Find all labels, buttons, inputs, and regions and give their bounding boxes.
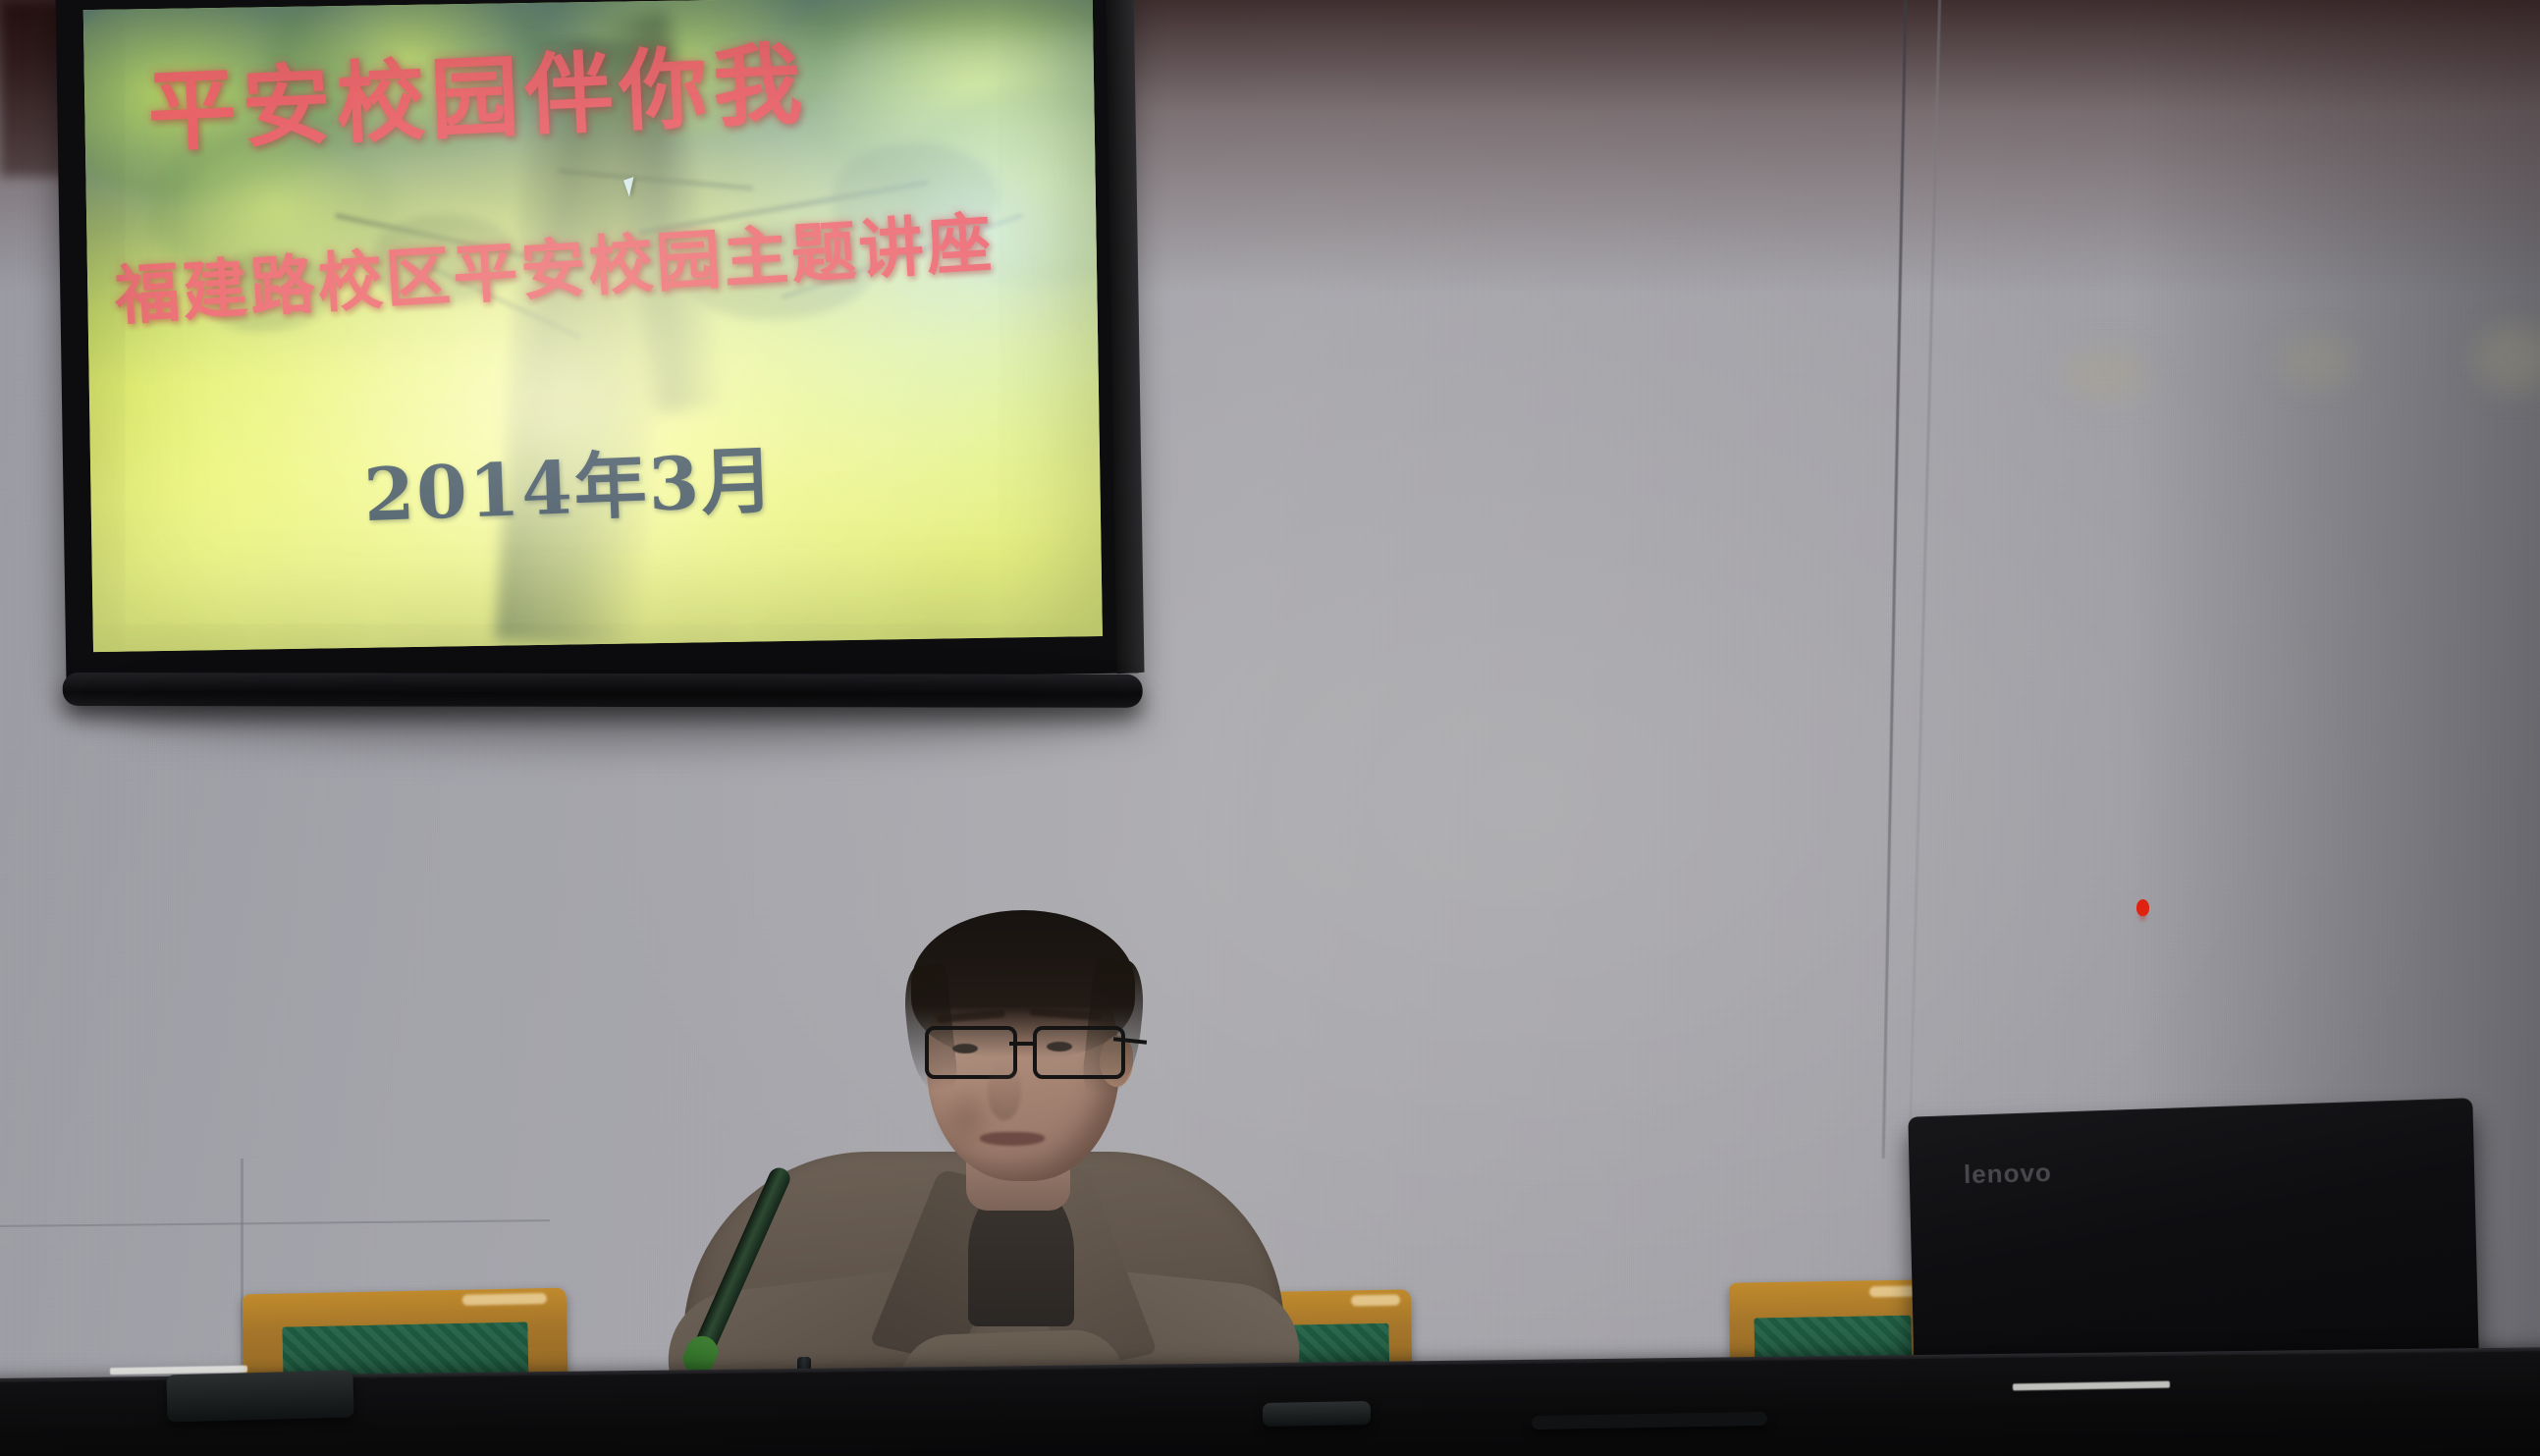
wall-red-mark	[2136, 899, 2149, 916]
eyeglasses-icon	[917, 1026, 1131, 1077]
wall-smudge-a	[2062, 346, 2150, 404]
slide-title: 平安校园伴你我	[144, 2, 1037, 168]
screen-drop-shadow	[108, 677, 1149, 746]
lecture-hall-scene: 平安校园伴你我 福建路校区平安校园主题讲座 2014年3月	[0, 0, 2540, 1456]
eyeglasses-lens-right	[1033, 1026, 1125, 1079]
desk-small-object[interactable]	[1263, 1401, 1371, 1427]
wall-smudge-b	[2278, 334, 2356, 389]
slide-date: 2014年3月	[361, 422, 777, 542]
eyeglasses-bridge	[1009, 1042, 1037, 1046]
slide-text-layer: 平安校园伴你我 福建路校区平安校园主题讲座 2014年3月	[83, 0, 1103, 652]
speaker-nose	[988, 1065, 1021, 1120]
projected-slide: 平安校园伴你我 福建路校区平安校园主题讲座 2014年3月	[83, 0, 1103, 652]
speaker-mouth	[980, 1132, 1045, 1146]
desk-remote-device[interactable]	[166, 1371, 353, 1423]
laptop-brand-logo: lenovo	[1964, 1158, 2053, 1190]
chair-rail-highlight	[462, 1293, 547, 1305]
slide-subtitle: 福建路校区平安校园主题讲座	[112, 184, 1103, 338]
projection-screen: 平安校园伴你我 福建路校区平安校园主题讲座 2014年3月	[55, 0, 1138, 690]
chair-rail-highlight	[1351, 1295, 1400, 1306]
